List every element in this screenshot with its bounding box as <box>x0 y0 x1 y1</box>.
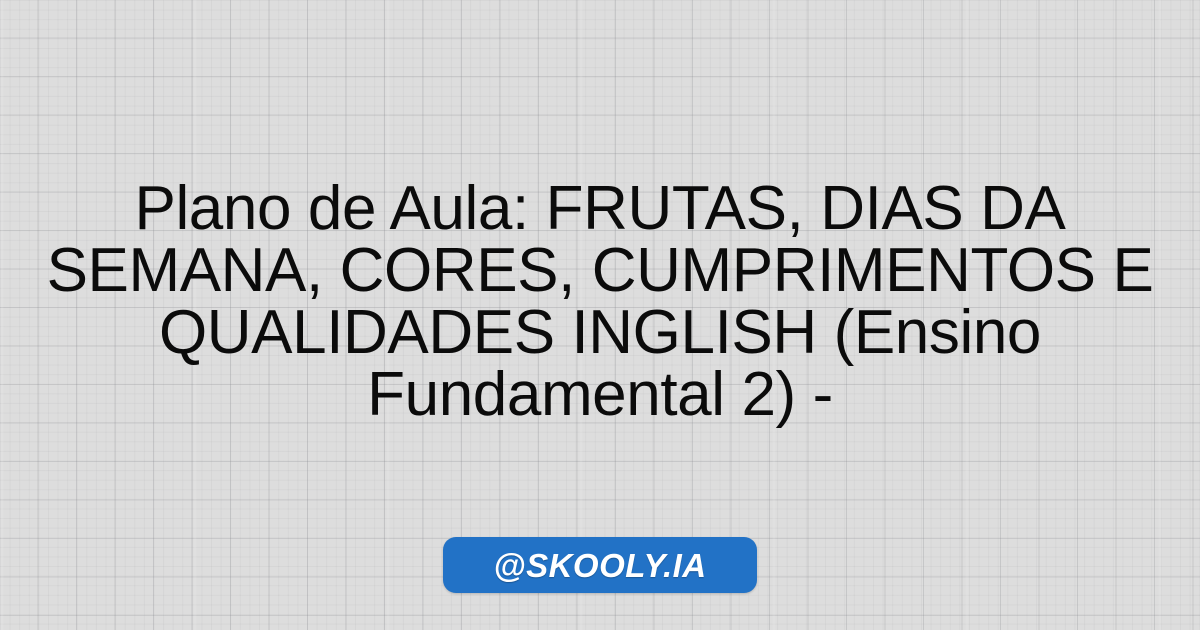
title-block: Plano de Aula: FRUTAS, DIAS DA SEMANA, C… <box>24 178 1176 426</box>
brand-badge-label: @SKOOLY.IA <box>493 549 706 582</box>
page-title: Plano de Aula: FRUTAS, DIAS DA SEMANA, C… <box>24 178 1176 426</box>
share-card: Plano de Aula: FRUTAS, DIAS DA SEMANA, C… <box>0 0 1200 630</box>
brand-badge[interactable]: @SKOOLY.IA <box>443 537 757 593</box>
badge-container: @SKOOLY.IA <box>0 537 1200 593</box>
